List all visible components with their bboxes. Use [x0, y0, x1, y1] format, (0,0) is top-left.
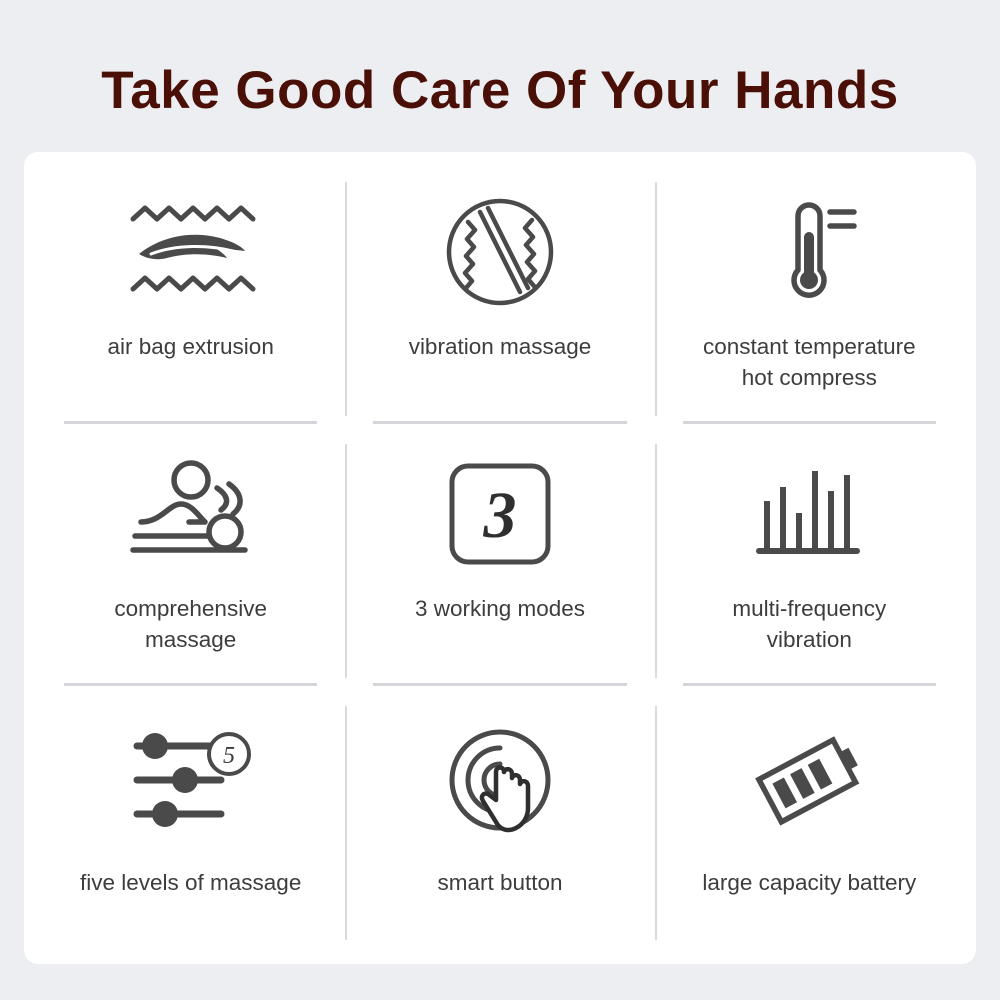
feature-label: comprehensive massage — [114, 594, 267, 655]
feature-cell-multi-frequency: multi-frequency vibration — [655, 430, 964, 692]
feature-cell-battery: large capacity battery — [655, 692, 964, 954]
feature-label: multi-frequency vibration — [732, 594, 886, 655]
sliders-five-icon: 5 — [125, 718, 257, 842]
feature-label: 3 working modes — [415, 594, 585, 624]
svg-text:5: 5 — [223, 743, 235, 769]
page-title: Take Good Care Of Your Hands — [101, 62, 898, 120]
feature-label: smart button — [437, 868, 562, 898]
svg-text:3: 3 — [482, 479, 516, 552]
poster-root: Take Good Care Of Your Hands air bag ext… — [0, 0, 1000, 1000]
feature-cell-vibration-massage: vibration massage — [345, 168, 654, 430]
battery-icon — [749, 718, 869, 842]
feature-cell-comprehensive-massage: comprehensive massage — [36, 430, 345, 692]
feature-label: five levels of massage — [80, 868, 301, 898]
feature-label: vibration massage — [409, 332, 592, 362]
vibration-circle-icon — [444, 194, 556, 310]
feature-cell-five-levels: 5 five levels of massage — [36, 692, 345, 954]
number-three-square-icon: 3 — [447, 456, 553, 572]
frequency-bars-icon — [753, 456, 865, 572]
feature-cell-air-bag-extrusion: air bag extrusion — [36, 168, 345, 430]
touch-hand-icon — [444, 718, 556, 842]
feature-cell-constant-temperature: constant temperature hot compress — [655, 168, 964, 430]
airbag-waves-icon — [125, 194, 257, 310]
feature-cell-working-modes: 3 3 working modes — [345, 430, 654, 692]
person-massage-icon — [125, 456, 257, 572]
feature-cell-smart-button: smart button — [345, 692, 654, 954]
feature-grid: air bag extrusion vibration massage — [24, 152, 976, 964]
feature-label: large capacity battery — [702, 868, 916, 898]
thermometer-heat-icon — [754, 194, 864, 310]
feature-label: constant temperature hot compress — [703, 332, 916, 393]
feature-label: air bag extrusion — [107, 332, 273, 362]
